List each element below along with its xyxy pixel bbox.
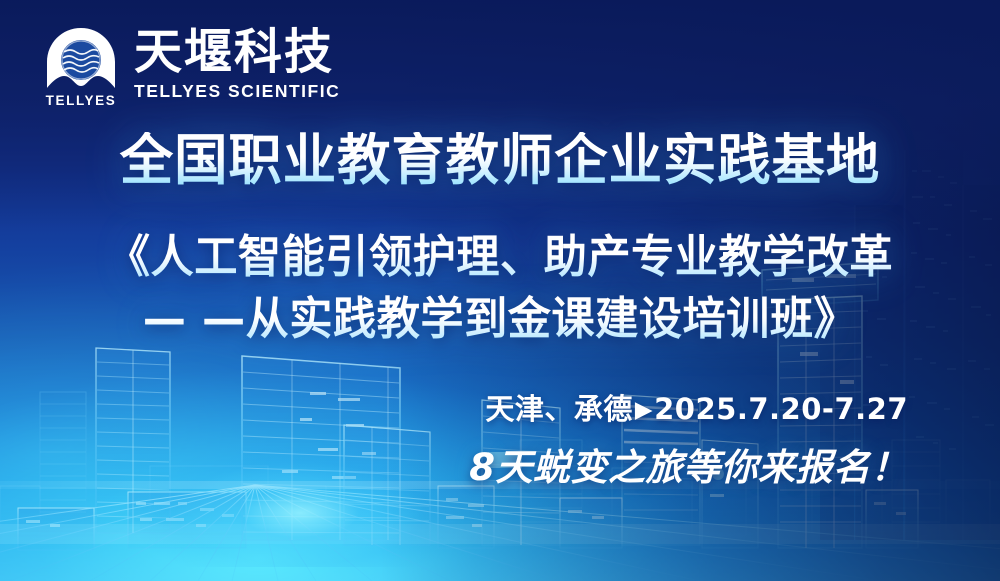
event-dates: 2025.7.20-7.27 bbox=[654, 392, 908, 426]
subtitle-block: 《人工智能引领护理、助产专业教学改革 — —从实践教学到金课建设培训班》 bbox=[0, 226, 1000, 350]
headline-block: 全国职业教育教师企业实践基地 bbox=[0, 132, 1000, 189]
logo-wordmark: TELLYES bbox=[42, 93, 120, 108]
event-info-block: 天津、承德▶2025.7.20-7.27 8天蜕变之旅等你来报名！ bbox=[469, 386, 908, 491]
event-slogan: 8天蜕变之旅等你来报名！ bbox=[469, 437, 908, 491]
brand-name-en: TELLYES SCIENTIFIC bbox=[134, 81, 340, 102]
triangle-right-icon: ▶ bbox=[633, 397, 654, 423]
page-title: 全国职业教育教师企业实践基地 bbox=[15, 132, 985, 189]
tellyes-globe-arch-logo-icon: TELLYES bbox=[42, 26, 120, 108]
poster-banner: TELLYES 天堰科技 TELLYES SCIENTIFIC 全国职业教育教师… bbox=[0, 0, 1000, 581]
subtitle-line-1: 《人工智能引领护理、助产专业教学改革 bbox=[20, 226, 980, 288]
event-date-line: 天津、承德▶2025.7.20-7.27 bbox=[469, 386, 908, 428]
brand-name-cn: 天堰科技 bbox=[134, 28, 340, 78]
subtitle-line-2: — —从实践教学到金课建设培训班》 bbox=[20, 288, 980, 350]
brand-logo[interactable]: TELLYES 天堰科技 TELLYES SCIENTIFIC bbox=[42, 26, 340, 108]
ground-glow bbox=[140, 447, 460, 567]
event-locations: 天津、承德 bbox=[485, 392, 633, 426]
